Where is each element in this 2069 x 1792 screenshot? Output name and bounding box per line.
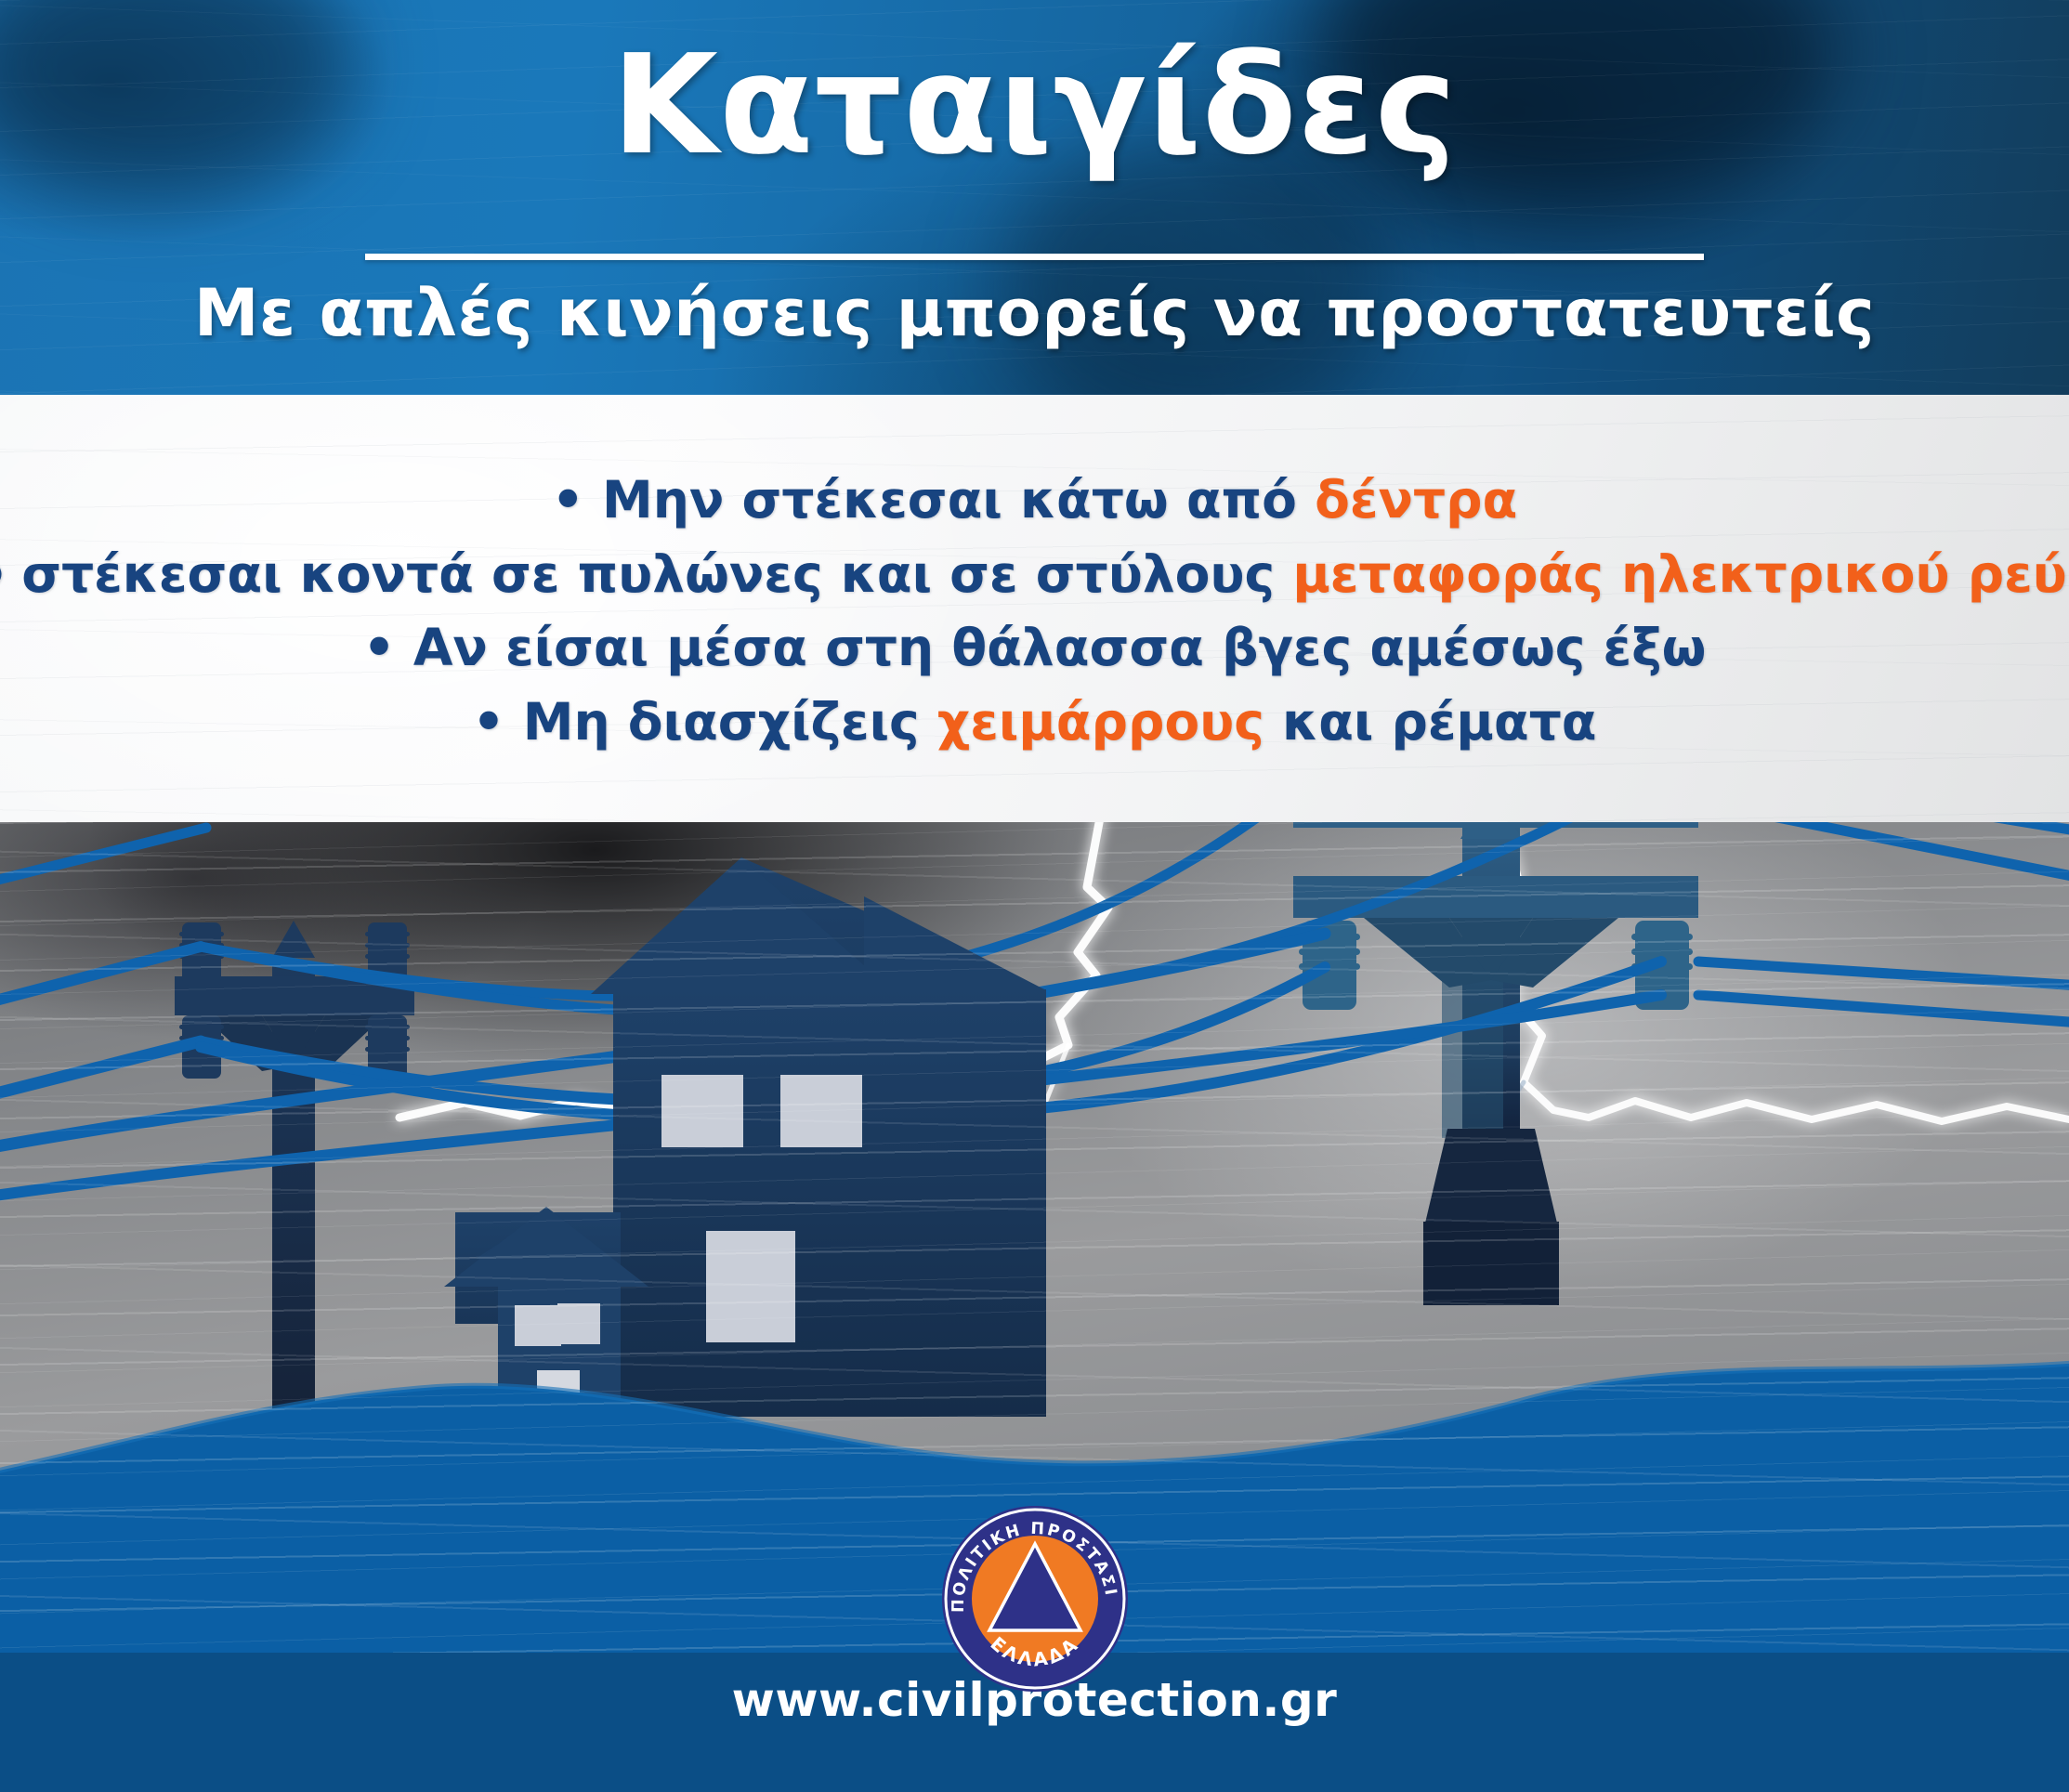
header-banner: Καταιγίδες Με απλές κινήσεις μπορείς να … <box>0 0 2069 395</box>
tip-text-post: και ρέματα <box>1264 692 1597 752</box>
bullet-icon: • <box>363 618 396 677</box>
tip-highlight: χειμάρρους <box>937 692 1264 752</box>
tip-text: Μην στέκεσαι κάτω από <box>584 470 1315 530</box>
page-subtitle: Με απλές κινήσεις μπορείς να προστατευτε… <box>0 275 2069 351</box>
tip-item: • Αν είσαι μέσα στη θάλασσα βγες αμέσως … <box>363 615 1707 682</box>
poster: Καταιγίδες Με απλές κινήσεις μπορείς να … <box>0 0 2069 1792</box>
civil-protection-logo: ΠΟΛΙΤΙΚΗ ΠΡΟΣΤΑΣΙΑ ΕΛΛΑΔΑ <box>937 1501 1133 1696</box>
tip-item: • Μη διασχίζεις χειμάρρους και ρέματα <box>472 689 1596 756</box>
tip-text: Μη διασχίζεις <box>505 692 937 752</box>
tip-item: • Μην στέκεσαι κάτω από δέντρα <box>552 467 1518 534</box>
page-title: Καταιγίδες <box>0 26 2069 184</box>
title-divider <box>365 254 1704 260</box>
tip-highlight: μεταφοράς ηλεκτρικού ρεύματος <box>1292 544 2069 604</box>
window <box>515 1305 561 1346</box>
window <box>661 1075 743 1147</box>
tip-text: Μην στέκεσαι κοντά σε πυλώνες και σε στύ… <box>0 544 1292 604</box>
tip-item: • Μην στέκεσαι κοντά σε πυλώνες και σε σ… <box>0 542 2069 608</box>
safety-tips-panel: • Μην στέκεσαι κάτω από δέντρα • Μην στέ… <box>0 395 2069 822</box>
tip-text: Αν είσαι μέσα στη θάλασσα βγες αμέσως έξ… <box>396 618 1707 677</box>
bullet-icon: • <box>552 470 584 530</box>
tip-highlight: δέντρα <box>1315 470 1517 530</box>
bullet-icon: • <box>472 692 504 752</box>
door <box>706 1231 795 1342</box>
utility-pole-right <box>1293 822 1698 1305</box>
window <box>780 1075 862 1147</box>
house-large <box>591 857 1046 1417</box>
power-lines <box>0 828 206 882</box>
window <box>557 1303 600 1344</box>
